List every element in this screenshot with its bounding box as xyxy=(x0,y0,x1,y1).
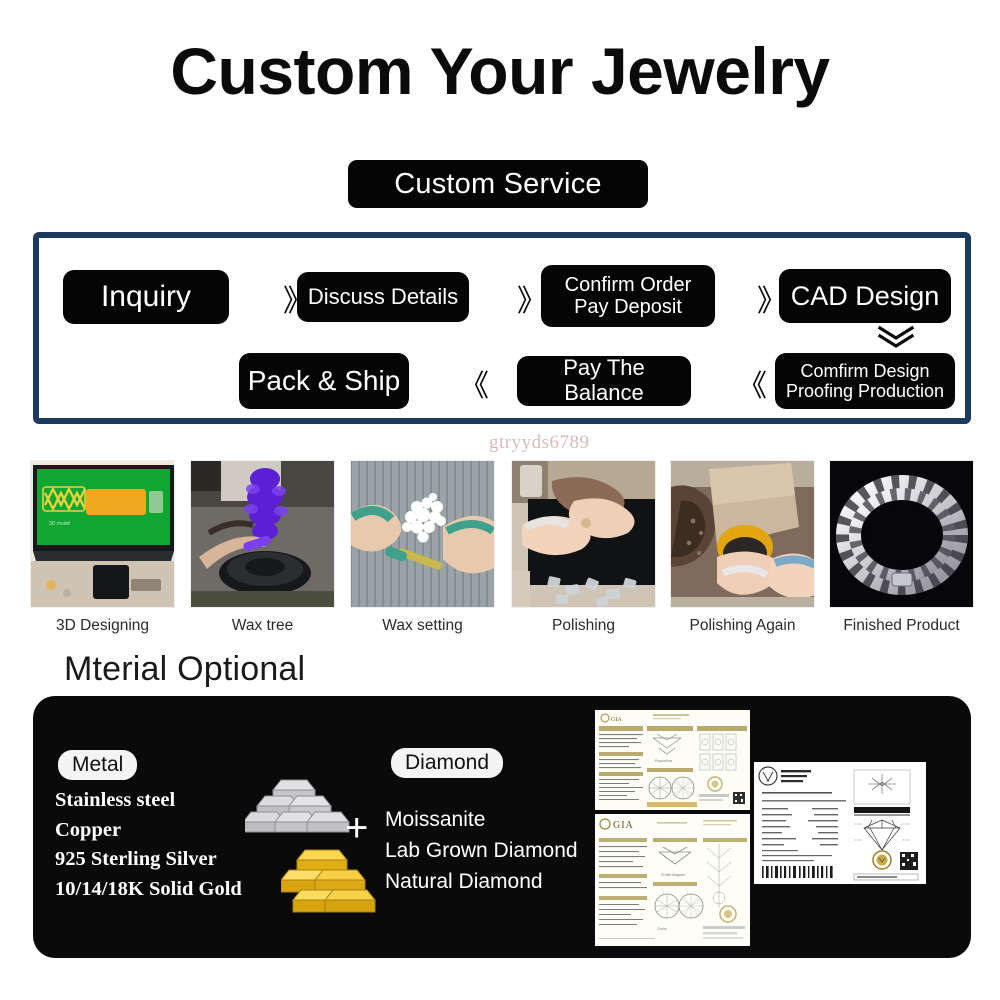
diamond-option-0: Moissanite xyxy=(385,804,578,835)
gallery-caption-wax-setting: Wax setting xyxy=(350,617,495,635)
gallery-image-3d-designing: 3D model xyxy=(30,460,175,608)
confirm-order-line2: Pay Deposit xyxy=(574,296,682,318)
material-section-title: Mterial Optional xyxy=(64,650,305,689)
metal-option-2: 925 Sterling Silver xyxy=(55,845,242,875)
plus-icon: + xyxy=(345,808,368,848)
diamond-option-2: Natural Diamond xyxy=(385,866,578,897)
flow-step-confirm-order[interactable]: Confirm Order Pay Deposit xyxy=(541,265,715,327)
svg-text:Proportions: Proportions xyxy=(655,759,673,763)
gallery-item-polishing-again[interactable]: Polishing Again xyxy=(670,460,815,635)
svg-text:GIA: GIA xyxy=(611,717,622,723)
flow-step-pay-balance[interactable]: Pay The Balance xyxy=(517,356,691,406)
metal-pill-label: Metal xyxy=(58,750,137,780)
page-root: Custom Your Jewelry Custom Service Inqui… xyxy=(0,0,1000,1000)
silver-bars-icon xyxy=(245,778,351,847)
gold-bars-icon xyxy=(281,846,377,923)
gallery-caption-polishing-again: Polishing Again xyxy=(670,617,815,635)
svg-text:Clarity: Clarity xyxy=(657,927,667,931)
metal-option-1: Copper xyxy=(55,816,242,846)
gallery-item-wax-setting[interactable]: Wax setting xyxy=(350,460,495,635)
watermark-top: gtryyds6789 xyxy=(489,432,590,454)
svg-text:Profile diagram: Profile diagram xyxy=(661,873,685,877)
gallery-caption-finished-product: Finished Product xyxy=(829,617,974,635)
svg-text:GIA: GIA xyxy=(613,820,634,831)
gia-certificate-bottom[interactable]: GIA xyxy=(595,814,750,946)
chevron-left-icon-1: 《 xyxy=(735,366,769,400)
gallery-image-wax-setting xyxy=(350,460,495,608)
comfirm-design-line2: Proofing Production xyxy=(786,381,944,401)
confirm-order-line1: Confirm Order xyxy=(565,274,692,296)
gallery-item-wax-tree[interactable]: Wax tree xyxy=(190,460,335,635)
metal-options-list: Stainless steel Copper 925 Sterling Silv… xyxy=(55,786,242,904)
gallery-caption-polishing: Polishing xyxy=(511,617,656,635)
gallery-item-3d-designing[interactable]: 3D model 3D Designing xyxy=(30,460,175,635)
diamond-pill-label: Diamond xyxy=(391,748,503,778)
diamond-options-list: Moissanite Lab Grown Diamond Natural Dia… xyxy=(385,804,578,897)
gallery-caption-3d-designing: 3D Designing xyxy=(30,617,175,635)
flow-step-inquiry[interactable]: Inquiry xyxy=(63,270,229,324)
gallery-image-polishing xyxy=(511,460,656,608)
process-flow-container: Inquiry 》 Discuss Details 》 Confirm Orde… xyxy=(33,232,971,424)
svg-text:3D model: 3D model xyxy=(49,521,70,527)
comfirm-design-line1: Comfirm Design xyxy=(800,361,929,381)
gallery-caption-wax-tree: Wax tree xyxy=(190,617,335,635)
gallery-item-polishing[interactable]: Polishing xyxy=(511,460,656,635)
flow-step-pack-ship[interactable]: Pack & Ship xyxy=(239,353,409,409)
chevron-left-icon-2: 《 xyxy=(457,366,491,400)
igi-certificate[interactable] xyxy=(754,762,926,884)
flow-step-comfirm-design[interactable]: Comfirm Design Proofing Production xyxy=(775,353,955,409)
flow-step-discuss-details[interactable]: Discuss Details xyxy=(297,272,469,322)
chevron-down-icon xyxy=(865,324,927,352)
metal-option-0: Stainless steel xyxy=(55,786,242,816)
gia-certificate-top[interactable]: GIA xyxy=(595,710,750,810)
diamond-option-1: Lab Grown Diamond xyxy=(385,835,578,866)
page-title: Custom Your Jewelry xyxy=(0,38,1000,104)
gallery-item-finished-product[interactable]: Finished Product xyxy=(829,460,974,635)
process-gallery: 3D model 3D Designing xyxy=(0,460,1000,635)
gallery-image-wax-tree xyxy=(190,460,335,608)
material-panel: gtryyds6789 Metal Stainless steel Copper… xyxy=(33,696,971,958)
gallery-image-finished-product xyxy=(829,460,974,608)
gallery-image-polishing-again xyxy=(670,460,815,608)
flow-step-cad-design[interactable]: CAD Design xyxy=(779,269,951,323)
metal-option-3: 10/14/18K Solid Gold xyxy=(55,875,242,905)
custom-service-badge: Custom Service xyxy=(348,160,648,208)
